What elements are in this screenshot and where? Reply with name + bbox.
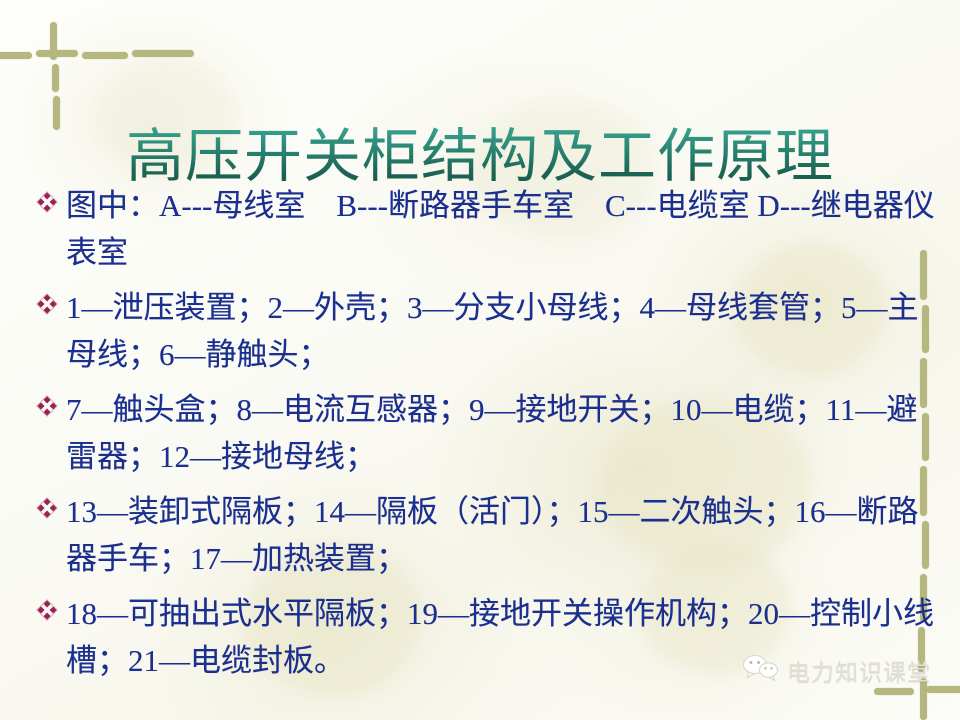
bamboo-stroke-vertical-topleft <box>52 64 59 92</box>
bamboo-stroke-horizontal-topleft <box>36 50 78 57</box>
slide-canvas: 高压开关柜结构及工作原理 图中：A---母线室 B---断路器手车室 C---电 <box>0 0 960 720</box>
bullet-list: 图中：A---母线室 B---断路器手车室 C---电缆室 D---继电器仪表室 <box>36 182 936 692</box>
list-item-text: 1—泄压装置；2—外壳；3—分支小母线；4—母线套管；5—主母线；6—静触头； <box>66 284 936 378</box>
list-item-text: 图中：A---母线室 B---断路器手车室 C---电缆室 D---继电器仪表室 <box>66 182 936 276</box>
bamboo-stroke-vertical-topleft <box>53 96 60 130</box>
diamond-floret-bullet-icon <box>36 590 66 621</box>
diamond-floret-bullet-icon <box>36 284 66 315</box>
bamboo-stroke-horizontal-topleft <box>82 52 128 59</box>
diamond-floret-bullet-icon <box>36 488 66 519</box>
list-item-text: 7—触头盒；8—电流互感器；9—接地开关；10—电缆；11—避雷器；12—接地母… <box>66 386 936 480</box>
list-item: 13—装卸式隔板；14—隔板（活门）；15—二次触头；16—断路器手车；17—加… <box>36 488 936 582</box>
list-item: 图中：A---母线室 B---断路器手车室 C---电缆室 D---继电器仪表室 <box>36 182 936 276</box>
list-item: 18—可抽出式水平隔板；19—接地开关操作机构；20—控制小线槽；21—电缆封板… <box>36 590 936 684</box>
diamond-floret-bullet-icon <box>36 182 66 213</box>
bamboo-stroke-vertical-topleft <box>50 22 57 60</box>
bamboo-stroke-horizontal-topleft <box>0 52 32 59</box>
diamond-floret-bullet-icon <box>36 386 66 417</box>
bamboo-stroke-horizontal-topleft <box>132 50 194 57</box>
list-item-text: 13—装卸式隔板；14—隔板（活门）；15—二次触头；16—断路器手车；17—加… <box>66 488 936 582</box>
page-title: 高压开关柜结构及工作原理 <box>0 127 960 188</box>
list-item: 1—泄压装置；2—外壳；3—分支小母线；4—母线套管；5—主母线；6—静触头； <box>36 284 936 378</box>
list-item: 7—触头盒；8—电流互感器；9—接地开关；10—电缆；11—避雷器；12—接地母… <box>36 386 936 480</box>
list-item-text: 18—可抽出式水平隔板；19—接地开关操作机构；20—控制小线槽；21—电缆封板… <box>66 590 936 684</box>
